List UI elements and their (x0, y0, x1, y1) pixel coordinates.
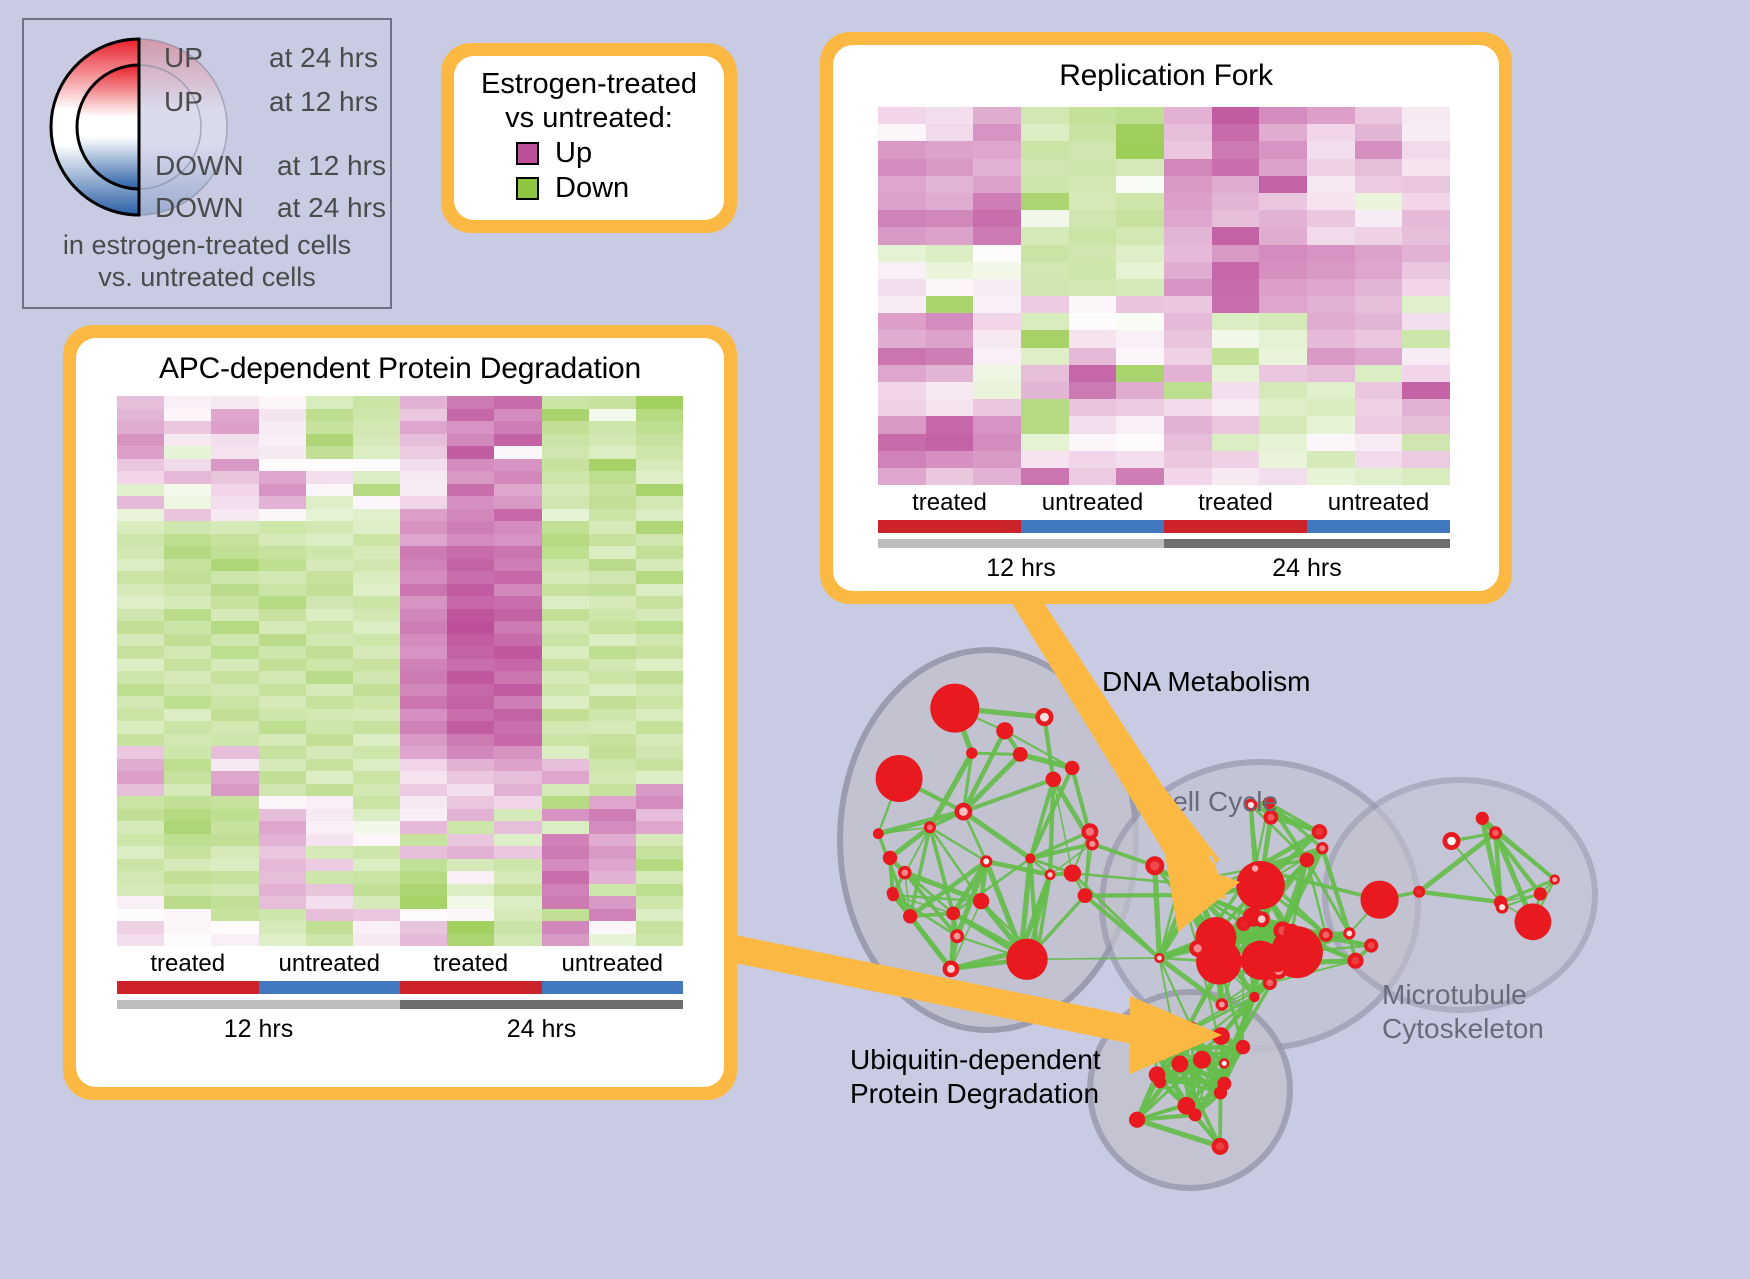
network-node[interactable] (1496, 901, 1509, 914)
heatmap-cell (211, 434, 258, 447)
heatmap-cell (1355, 348, 1403, 365)
heatmap-cell (1402, 348, 1450, 365)
network-node[interactable] (1347, 953, 1363, 969)
network-node[interactable] (1343, 927, 1355, 939)
heatmap-cell (1069, 245, 1117, 262)
heatmap-cell (1402, 141, 1450, 158)
heatmap-cell (211, 446, 258, 459)
heatmap-cell (259, 659, 306, 672)
network-node[interactable] (1219, 953, 1229, 963)
heatmap-cell (306, 509, 353, 522)
heatmap-cell (211, 884, 258, 897)
legend-item-down: Down (516, 172, 724, 205)
network-node[interactable] (1413, 886, 1425, 898)
heatmap-cell (259, 671, 306, 684)
heatmap-cell (542, 596, 589, 609)
heatmap-cell (353, 646, 400, 659)
heatmap-cell (211, 634, 258, 647)
network-node[interactable] (973, 893, 989, 909)
heatmap-cell (211, 534, 258, 547)
heatmap-cell (1355, 365, 1403, 382)
heatmap-cell (400, 884, 447, 897)
heatmap-cell (164, 871, 211, 884)
heatmap-cell (400, 834, 447, 847)
heatmap-cell (447, 734, 494, 747)
network-node[interactable] (966, 747, 977, 758)
heatmap-cell (542, 421, 589, 434)
heatmap-cell (494, 446, 541, 459)
network-node[interactable] (1219, 1058, 1229, 1068)
heatmap-cell (117, 621, 164, 634)
heatmap-cell (1164, 468, 1212, 485)
heatmap-cell (589, 559, 636, 572)
heatmap-cell (636, 909, 683, 922)
heatmap-cell (211, 896, 258, 909)
heatmap-cell (878, 382, 926, 399)
network-node[interactable] (1189, 940, 1206, 957)
heatmap-cell (494, 734, 541, 747)
heatmap-cell (636, 809, 683, 822)
heatmap-cell (589, 796, 636, 809)
heatmap-cell (494, 821, 541, 834)
heatmap-cell (259, 871, 306, 884)
heatmap-cell (117, 934, 164, 947)
heatmap-cell (353, 834, 400, 847)
network-node[interactable] (1364, 938, 1378, 952)
heatmap-cell (1116, 159, 1164, 176)
heatmap-cell (1307, 313, 1355, 330)
heatmap-cell (353, 421, 400, 434)
heatmap-cell (211, 509, 258, 522)
network-node[interactable] (996, 722, 1013, 739)
heatmap-cell (542, 921, 589, 934)
heatmap-cell (1021, 296, 1069, 313)
heatmap-cell (400, 421, 447, 434)
heatmap-cell (1307, 159, 1355, 176)
heatmap-cell (447, 909, 494, 922)
heatmap-cell (1069, 262, 1117, 279)
network-node[interactable] (930, 684, 979, 733)
apc-timepoint-bar (117, 1000, 683, 1009)
heatmap-cell (589, 721, 636, 734)
heatmap-cell (926, 399, 974, 416)
heatmap-cell (353, 796, 400, 809)
network-node[interactable] (1319, 928, 1333, 942)
network-node[interactable] (1216, 998, 1229, 1011)
heatmap-cell (353, 434, 400, 447)
heatmap-cell (589, 609, 636, 622)
heatmap-cell (542, 471, 589, 484)
heatmap-cell (636, 859, 683, 872)
network-node[interactable] (1312, 824, 1327, 839)
heatmap-cell (447, 684, 494, 697)
heatmap-cell (636, 796, 683, 809)
network-node[interactable] (1191, 887, 1207, 903)
heatmap-cell (353, 409, 400, 422)
heatmap-cell (353, 609, 400, 622)
heatmap-cell (353, 459, 400, 472)
network-node[interactable] (1254, 911, 1270, 927)
network-node[interactable] (1263, 976, 1277, 990)
heatmap-cell (589, 696, 636, 709)
network-node[interactable] (955, 803, 973, 821)
heatmap-cell (1116, 365, 1164, 382)
heatmap-cell (447, 621, 494, 634)
heatmap-cell (542, 771, 589, 784)
heatmap-cell (589, 434, 636, 447)
heatmap-cell (306, 584, 353, 597)
heatmap-cell (1069, 416, 1117, 433)
heatmap-cell (447, 446, 494, 459)
network-node[interactable] (1172, 876, 1186, 890)
heatmap-cell (117, 784, 164, 797)
heatmap-cell (494, 721, 541, 734)
heatmap-cell (447, 546, 494, 559)
heatmap-cell (542, 396, 589, 409)
heatmap-cell (259, 884, 306, 897)
network-node[interactable] (924, 821, 936, 833)
heatmap-cell (211, 659, 258, 672)
network-node[interactable] (943, 961, 960, 978)
heatmap-cell (164, 534, 211, 547)
heatmap-cell (117, 521, 164, 534)
heatmap-cell (400, 671, 447, 684)
heatmap-cell (926, 141, 974, 158)
heatmap-cell (494, 571, 541, 584)
heatmap-cell (306, 471, 353, 484)
heatmap-cell (117, 659, 164, 672)
network-node[interactable] (1081, 823, 1098, 840)
network-node[interactable] (1361, 881, 1399, 919)
heatmap-cell (589, 421, 636, 434)
heatmap-cell (1164, 262, 1212, 279)
heatmap-cell (211, 684, 258, 697)
heatmap-cell (1402, 296, 1450, 313)
heatmap-cell (117, 871, 164, 884)
heatmap-cell (164, 784, 211, 797)
heatmap-cell (447, 746, 494, 759)
heatmap-cell (400, 559, 447, 572)
heatmap-cell (1116, 107, 1164, 124)
network-node[interactable] (1078, 888, 1093, 903)
heatmap-cell (973, 365, 1021, 382)
heatmap-cell (1259, 245, 1307, 262)
network-node[interactable] (1270, 956, 1287, 973)
heatmap-cell (211, 771, 258, 784)
heatmap-cell (211, 709, 258, 722)
heatmap-cell (1402, 416, 1450, 433)
heatmap-cell (1164, 399, 1212, 416)
heatmap-cell (353, 534, 400, 547)
network-node[interactable] (1489, 826, 1502, 839)
network-node[interactable] (1065, 761, 1079, 775)
network-node[interactable] (873, 828, 884, 839)
heatmap-cell (164, 759, 211, 772)
heatmap-cell (353, 921, 400, 934)
pathway-network-diagram[interactable] (760, 600, 1750, 1279)
heatmap-cell (400, 509, 447, 522)
network-node[interactable] (1236, 1040, 1250, 1054)
heatmap-cell (306, 709, 353, 722)
heatmap-cell (353, 884, 400, 897)
heatmap-cell (589, 484, 636, 497)
heatmap-cell (542, 546, 589, 559)
heatmap-cell (926, 159, 974, 176)
heatmap-cell (447, 509, 494, 522)
heatmap-cell (494, 484, 541, 497)
network-node[interactable] (1248, 862, 1261, 875)
heatmap-cell (973, 296, 1021, 313)
heatmap-cell (306, 484, 353, 497)
network-node[interactable] (883, 851, 897, 865)
heatmap-cell (1116, 399, 1164, 416)
network-node[interactable] (1086, 837, 1099, 850)
heatmap-cell (1355, 399, 1403, 416)
heatmap-cell (259, 909, 306, 922)
heatmap-cell (589, 646, 636, 659)
heatmap-cell (353, 634, 400, 647)
heatmap-cell (542, 846, 589, 859)
heatmap-cell (1259, 416, 1307, 433)
heatmap-cell (259, 471, 306, 484)
heatmap-cell (589, 571, 636, 584)
network-node[interactable] (1515, 903, 1552, 940)
key-footer: in estrogen-treated cells vs. untreated … (24, 230, 390, 294)
heatmap-cell (1069, 210, 1117, 227)
heatmap-cell (1259, 468, 1307, 485)
heatmap-cell (447, 484, 494, 497)
heatmap-cell (589, 584, 636, 597)
heatmap-cell (164, 584, 211, 597)
heatmap-cell (1021, 451, 1069, 468)
heatmap-cell (542, 684, 589, 697)
heatmap-cell (589, 846, 636, 859)
heatmap-cell (164, 409, 211, 422)
heatmap-cell (306, 559, 353, 572)
heatmap-cell (973, 434, 1021, 451)
network-node[interactable] (1045, 869, 1056, 880)
network-node[interactable] (1046, 772, 1062, 788)
network-node[interactable] (1186, 1022, 1198, 1034)
network-node[interactable] (950, 929, 964, 943)
heatmap-cell (542, 659, 589, 672)
network-node[interactable] (1035, 708, 1053, 726)
heatmap-cell (1259, 107, 1307, 124)
heatmap-cell (400, 521, 447, 534)
heatmap-cell (494, 584, 541, 597)
heatmap-cell (259, 396, 306, 409)
network-node[interactable] (1145, 856, 1164, 875)
heatmap-cell (353, 784, 400, 797)
heatmap-cell (926, 330, 974, 347)
heatmap-cell (926, 193, 974, 210)
heatmap-cell (306, 859, 353, 872)
heatmap-cell (1164, 313, 1212, 330)
heatmap-cell (1021, 348, 1069, 365)
heatmap-cell (589, 759, 636, 772)
heatmap-cell (211, 609, 258, 622)
heatmap-cell (211, 484, 258, 497)
heatmap-cell (164, 646, 211, 659)
heatmap-cell (306, 734, 353, 747)
network-node[interactable] (1236, 916, 1251, 931)
network-node[interactable] (1193, 1051, 1211, 1069)
heatmap-cell (1021, 330, 1069, 347)
heatmap-cell (1021, 124, 1069, 141)
heatmap-cell (117, 709, 164, 722)
network-node[interactable] (1212, 1027, 1230, 1045)
network-node[interactable] (1177, 894, 1191, 908)
heatmap-cell (1116, 141, 1164, 158)
network-node[interactable] (876, 755, 923, 802)
heatmap-cell (973, 245, 1021, 262)
heatmap-cell (353, 746, 400, 759)
heatmap-cell (542, 484, 589, 497)
network-node[interactable] (898, 866, 912, 880)
heatmap-cell (926, 227, 974, 244)
network-node[interactable] (1013, 747, 1028, 762)
network-node[interactable] (1189, 1108, 1202, 1121)
heatmap-cell (353, 709, 400, 722)
heatmap-cell (1116, 348, 1164, 365)
heatmap-cell (447, 921, 494, 934)
heatmap-cell (542, 571, 589, 584)
heatmap-cell (1021, 382, 1069, 399)
heatmap-cell (494, 859, 541, 872)
key-label-up-12: UP (164, 86, 203, 118)
heatmap-cell (117, 796, 164, 809)
heatmap-cell (589, 909, 636, 922)
heatmap-cell (926, 348, 974, 365)
heatmap-cell (447, 934, 494, 947)
heatmap-cell (306, 871, 353, 884)
network-node[interactable] (1154, 1076, 1167, 1089)
heatmap-cell (306, 809, 353, 822)
heatmap-cell (589, 671, 636, 684)
heatmap-cell (117, 484, 164, 497)
network-node[interactable] (1027, 946, 1047, 966)
network-node[interactable] (1283, 924, 1299, 940)
heatmap-cell (353, 471, 400, 484)
heatmap-cell (400, 796, 447, 809)
heatmap-cell (306, 534, 353, 547)
heatmap-cell (400, 784, 447, 797)
heatmap-cell (494, 746, 541, 759)
heatmap-cell (589, 509, 636, 522)
network-node[interactable] (980, 855, 992, 867)
heatmap-cell (353, 571, 400, 584)
network-node[interactable] (1206, 928, 1221, 943)
heatmap-cell (1307, 279, 1355, 296)
network-node[interactable] (1064, 865, 1081, 882)
heatmap-cell (400, 446, 447, 459)
heatmap-cell (306, 646, 353, 659)
network-node[interactable] (1316, 842, 1328, 854)
heatmap-cell (211, 571, 258, 584)
network-node[interactable] (1534, 887, 1547, 900)
heatmap-cell (926, 279, 974, 296)
heatmap-cell (1164, 434, 1212, 451)
heatmap-cell (259, 546, 306, 559)
heatmap-cell (259, 559, 306, 572)
network-node[interactable] (1249, 992, 1259, 1002)
heatmap-cell (589, 884, 636, 897)
timepoint-color-segment (878, 539, 1164, 548)
heatmap-cell (211, 396, 258, 409)
heatmap-cell (542, 796, 589, 809)
network-node[interactable] (1014, 944, 1029, 959)
network-node[interactable] (1147, 1041, 1162, 1056)
heatmap-cell (211, 846, 258, 859)
network-node[interactable] (1214, 1086, 1227, 1099)
heatmap-cell (1212, 296, 1260, 313)
heatmap-cell (447, 884, 494, 897)
network-node[interactable] (1550, 874, 1560, 884)
heatmap-cell (1307, 141, 1355, 158)
network-node[interactable] (1154, 953, 1164, 963)
heatmap-cell (1021, 193, 1069, 210)
heatmap-cell (400, 434, 447, 447)
heatmap-cell (1116, 434, 1164, 451)
heatmap-cell (400, 846, 447, 859)
heatmap-cell (1259, 227, 1307, 244)
heatmap-cell (164, 434, 211, 447)
heatmap-cell (211, 521, 258, 534)
heatmap-cell (1259, 313, 1307, 330)
heatmap-cell (878, 124, 926, 141)
network-node[interactable] (903, 909, 917, 923)
heatmap-cell (164, 496, 211, 509)
heatmap-cell (1355, 434, 1403, 451)
heatmap-cell (1164, 245, 1212, 262)
network-node[interactable] (1171, 1055, 1188, 1072)
heatmap-cell (1259, 451, 1307, 468)
heatmap-cell (494, 646, 541, 659)
heatmap-cell (1021, 107, 1069, 124)
heatmap-cell (1116, 210, 1164, 227)
heatmap-cell (447, 534, 494, 547)
network-node[interactable] (1476, 812, 1489, 825)
heatmap-cell (973, 348, 1021, 365)
heatmap-cell (164, 684, 211, 697)
heatmap-cell (1259, 330, 1307, 347)
condition-label: untreated (1021, 489, 1164, 517)
network-node[interactable] (1300, 853, 1315, 868)
heatmap-cell (1164, 227, 1212, 244)
network-node[interactable] (887, 889, 899, 901)
heatmap-cell (973, 451, 1021, 468)
heatmap-cell (542, 934, 589, 947)
heatmap-cell (211, 859, 258, 872)
heatmap-cell (1164, 210, 1212, 227)
heatmap-cell (589, 809, 636, 822)
network-node[interactable] (1212, 1138, 1229, 1155)
network-node[interactable] (1025, 853, 1035, 863)
replication-fork-title: Replication Fork (833, 45, 1499, 93)
heatmap-cell (306, 459, 353, 472)
network-node[interactable] (1443, 832, 1461, 850)
heatmap-cell (211, 496, 258, 509)
heatmap-cell (636, 509, 683, 522)
heatmap-cell (1402, 468, 1450, 485)
heatmap-cell (878, 434, 926, 451)
network-node[interactable] (946, 907, 960, 921)
heatmap-cell (117, 634, 164, 647)
network-node[interactable] (1129, 1112, 1145, 1128)
heatmap-cell (164, 709, 211, 722)
heatmap-cell (117, 809, 164, 822)
heatmap-cell (447, 496, 494, 509)
